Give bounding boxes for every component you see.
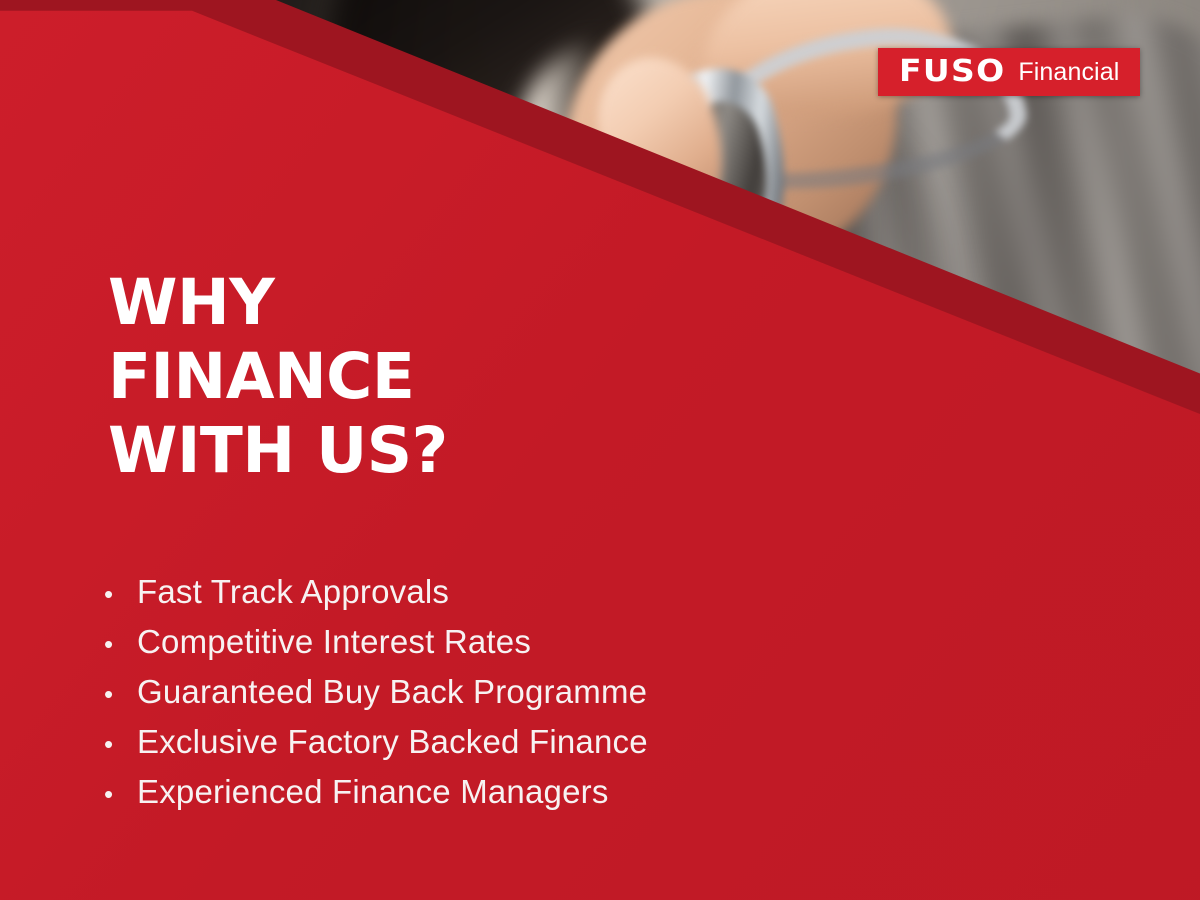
bullet-dot-icon: • <box>104 671 137 718</box>
list-item-label: Competitive Interest Rates <box>137 618 531 665</box>
headline-line-1: WHY <box>108 266 448 340</box>
list-item-label: Guaranteed Buy Back Programme <box>137 668 647 715</box>
bullet-dot-icon: • <box>104 771 137 818</box>
benefits-list: • Fast Track Approvals • Competitive Int… <box>104 568 648 818</box>
bullet-dot-icon: • <box>104 721 137 768</box>
bullet-dot-icon: • <box>104 571 137 618</box>
headline-line-2: FINANCE <box>108 340 448 414</box>
list-item: • Experienced Finance Managers <box>104 768 648 818</box>
list-item-label: Experienced Finance Managers <box>137 768 609 815</box>
list-item: • Competitive Interest Rates <box>104 618 648 668</box>
logo-financial-text: Financial <box>1018 60 1119 85</box>
list-item: • Fast Track Approvals <box>104 568 648 618</box>
list-item-label: Fast Track Approvals <box>137 568 449 615</box>
poster-canvas: FUSO Financial WHY FINANCE WITH US? • Fa… <box>0 0 1200 900</box>
headline-line-3: WITH US? <box>108 414 448 488</box>
page-title: WHY FINANCE WITH US? <box>108 266 448 488</box>
list-item: • Exclusive Factory Backed Finance <box>104 718 648 768</box>
list-item-label: Exclusive Factory Backed Finance <box>137 718 648 765</box>
logo-fuso-wordmark: FUSO <box>899 57 1005 87</box>
list-item: • Guaranteed Buy Back Programme <box>104 668 648 718</box>
bullet-dot-icon: • <box>104 621 137 668</box>
fuso-financial-logo[interactable]: FUSO Financial <box>878 48 1140 96</box>
